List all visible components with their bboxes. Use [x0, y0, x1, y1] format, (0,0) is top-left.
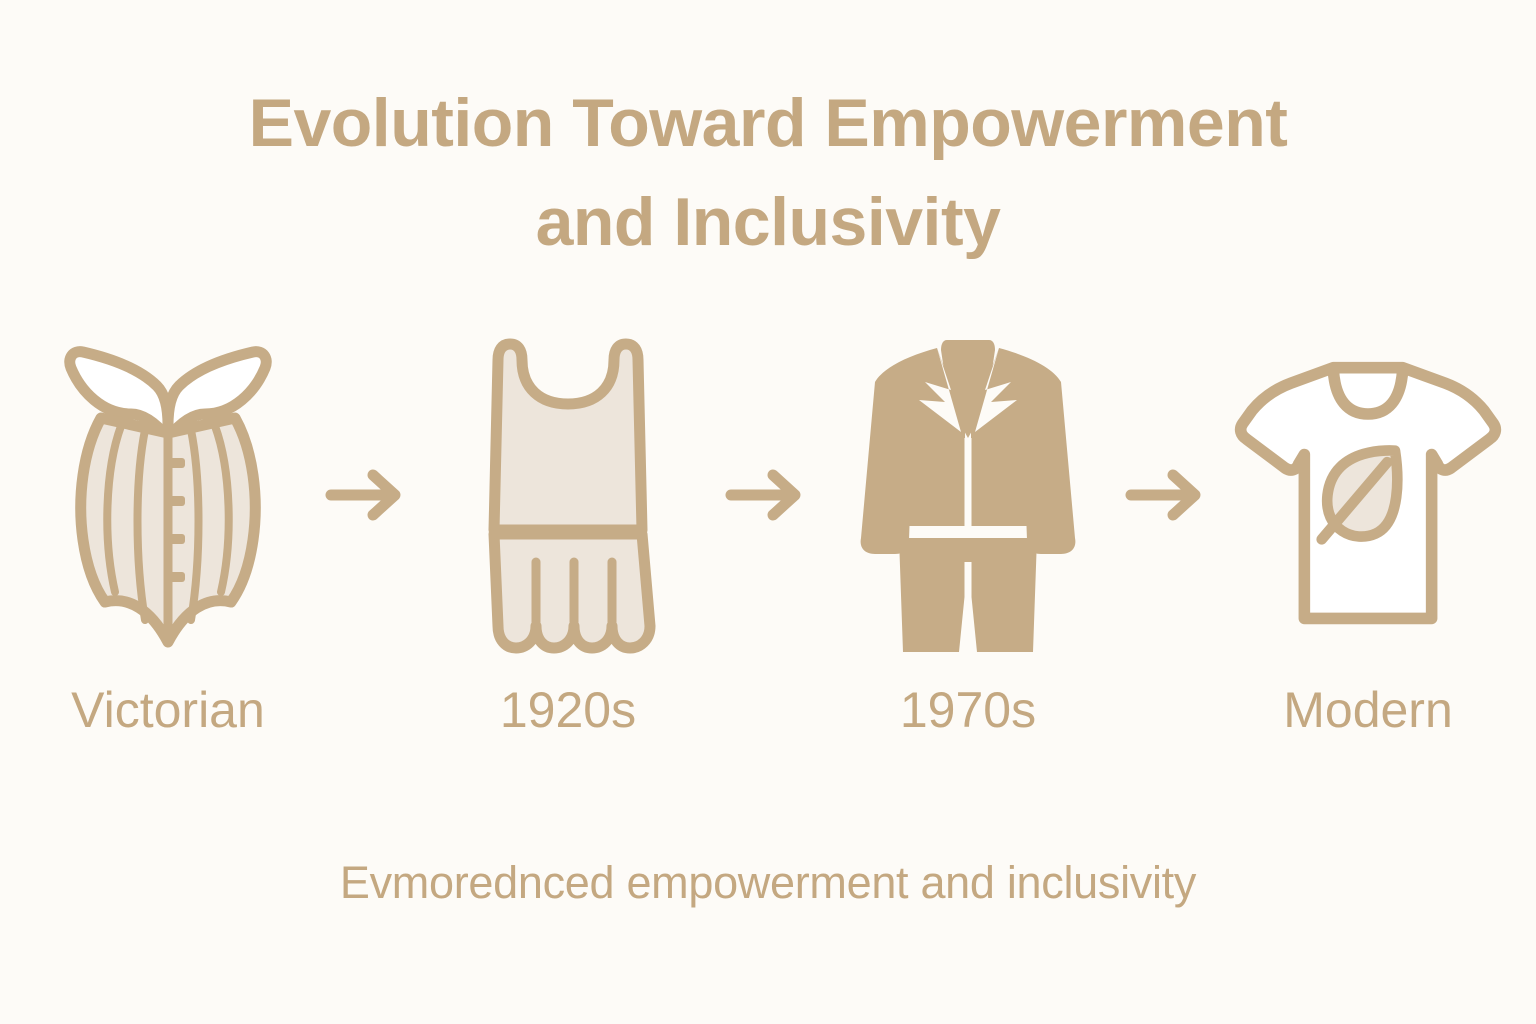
arrow-right-icon — [1125, 465, 1211, 525]
timeline-labels-row: Victorian 1920s 1970s Modern — [58, 683, 1478, 738]
label-1970s: 1970s — [833, 683, 1103, 738]
arrow-right-icon — [725, 465, 811, 525]
blazer-icon — [861, 340, 1076, 554]
tshirt-eco-icon — [1233, 345, 1503, 645]
connector-arrow-2 — [703, 325, 833, 665]
title-line-1: Evolution Toward Empowerment — [138, 74, 1398, 173]
connector-arrow-3 — [1103, 325, 1233, 665]
stage-victorian[interactable] — [33, 325, 303, 665]
caption-text: Evmorednced empowerment and inclusivity — [68, 856, 1468, 910]
stage-1920s[interactable] — [433, 325, 703, 665]
arrow-right-icon — [325, 465, 411, 525]
trousers-icon — [899, 538, 1037, 652]
label-victorian: Victorian — [33, 683, 303, 738]
label-modern: Modern — [1233, 683, 1503, 738]
corset-icon — [43, 330, 293, 660]
stage-1970s[interactable] — [833, 325, 1103, 665]
infographic-poster: Evolution Toward Empowerment and Inclusi… — [0, 0, 1536, 1024]
stage-modern[interactable] — [1233, 325, 1503, 665]
page-title: Evolution Toward Empowerment and Inclusi… — [138, 74, 1398, 273]
title-line-2: and Inclusivity — [138, 173, 1398, 272]
label-1920s: 1920s — [433, 683, 703, 738]
timeline-row — [58, 325, 1478, 665]
pantsuit-icon — [853, 330, 1083, 660]
connector-arrow-1 — [303, 325, 433, 665]
flapper-dress-icon — [468, 330, 668, 660]
